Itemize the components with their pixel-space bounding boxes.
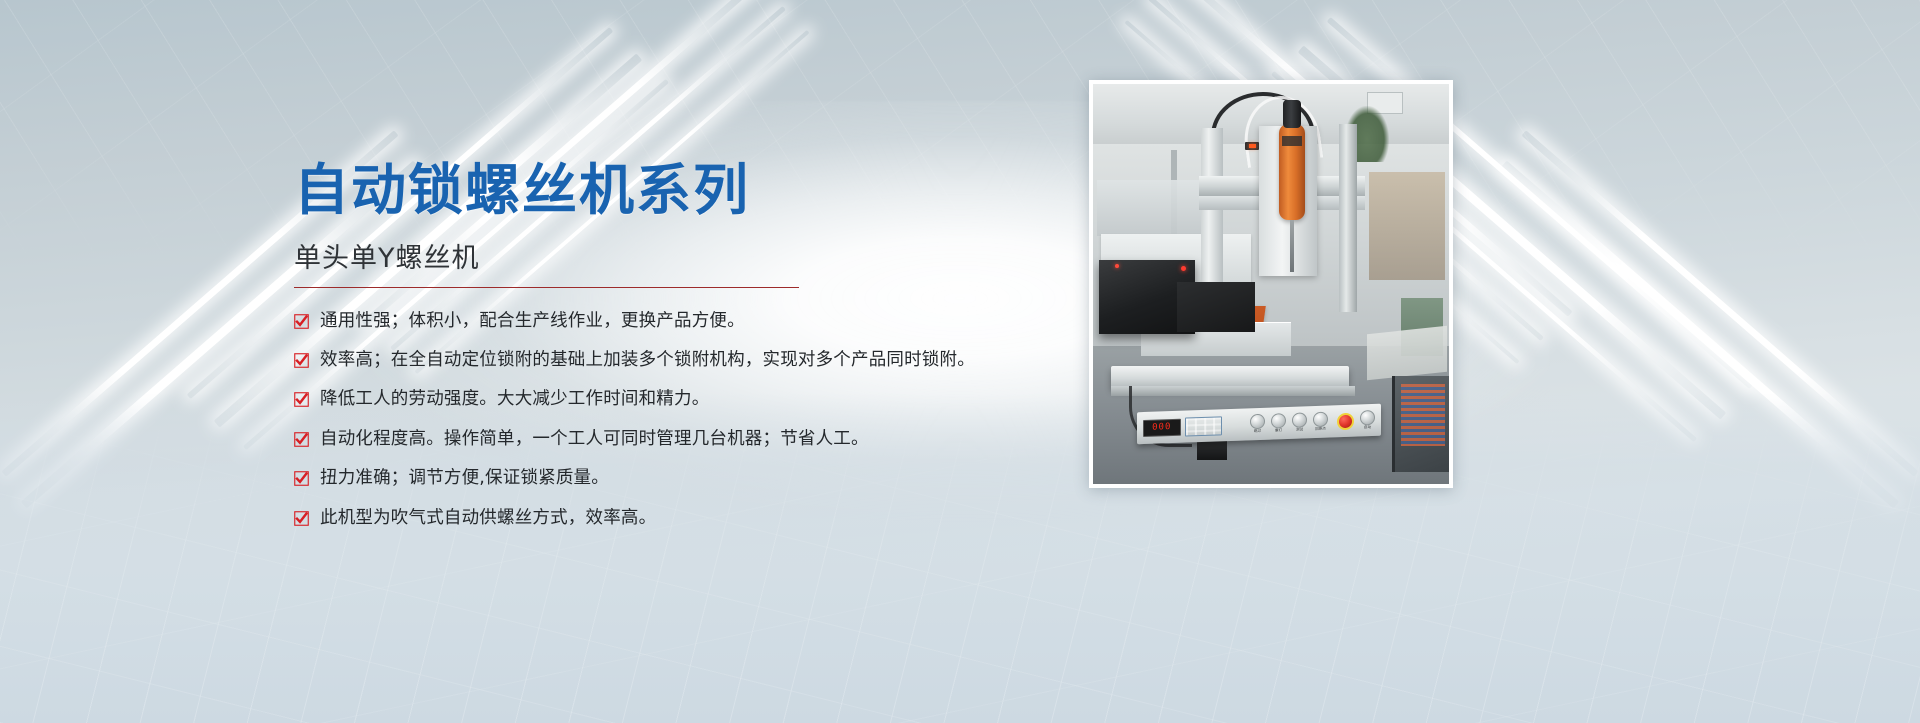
check-box-icon [294,511,309,526]
check-box-icon [294,392,309,407]
check-box-icon [294,432,309,447]
banner-content: 自动锁螺丝机系列 单头单Y螺丝机 通用性强；体积小，配合生产线作业，更换产品方便… [0,0,1920,723]
control-panel-display: 000 [1143,418,1181,436]
check-box-icon [294,353,309,368]
machine-foot-pedal [1197,440,1227,460]
control-panel-buttons: 跳过 重打 测试 回原点 [1250,410,1375,434]
photo-bench-back [1097,180,1215,236]
power-led-icon [1249,144,1256,148]
machine-base-plate [1111,366,1349,388]
machine-indicator-led [1181,266,1186,271]
feature-text: 此机型为吹气式自动供螺丝方式，效率高。 [320,507,656,529]
feature-text: 扭力准确；调节方便,保证锁紧质量。 [320,467,609,489]
button-skip[interactable]: 跳过 [1250,414,1265,434]
machine-indicator-led-2 [1115,264,1119,268]
text-block: 自动锁螺丝机系列 单头单Y螺丝机 通用性强；体积小，配合生产线作业，更换产品方便… [294,160,934,529]
feature-text: 效率高；在全自动定位锁附的基础上加装多个锁附机构，实现对多个产品同时锁附。 [320,349,975,371]
list-item: 通用性强；体积小，配合生产线作业，更换产品方便。 [294,310,934,332]
list-item: 此机型为吹气式自动供螺丝方式，效率高。 [294,507,934,529]
feature-text: 降低工人的劳动强度。大大减少工作时间和精力。 [320,388,709,410]
button-label: 测试 [1296,429,1303,433]
list-item: 自动化程度高。操作简单，一个工人可同时管理几台机器；节省人工。 [294,428,934,450]
list-item: 降低工人的劳动强度。大大减少工作时间和精力。 [294,388,934,410]
button-home[interactable]: 回原点 [1313,412,1328,432]
title-divider [294,287,799,288]
button-label: 重打 [1275,429,1282,433]
product-photo-image: 000 跳过 重打 测试 [1093,84,1449,484]
display-value: 000 [1152,423,1171,433]
list-item: 扭力准确；调节方便,保证锁紧质量。 [294,467,934,489]
button-label: 跳过 [1254,430,1261,434]
page-title: 自动锁螺丝机系列 [294,160,934,222]
machine-screwdriver-cap [1283,100,1301,128]
product-photo: 000 跳过 重打 测试 [1089,80,1453,488]
product-banner: 自动锁螺丝机系列 单头单Y螺丝机 通用性强；体积小，配合生产线作业，更换产品方便… [0,0,1920,723]
feature-list: 通用性强；体积小，配合生产线作业，更换产品方便。 效率高；在全自动定位锁附的基础… [294,310,934,529]
machine-feeder-extension [1177,282,1255,332]
machine-screwdriver-bit [1290,220,1294,272]
emergency-stop-button[interactable] [1337,412,1354,430]
button-start[interactable]: 启动 [1360,410,1375,430]
start-knob-icon [1360,410,1375,426]
power-switch[interactable] [1245,142,1259,150]
button-redo[interactable]: 重打 [1271,413,1286,433]
feature-text: 通用性强；体积小，配合生产线作业，更换产品方便。 [320,310,745,332]
button-test[interactable]: 测试 [1292,413,1307,433]
photo-monitor-screen [1401,384,1445,446]
machine-screwdriver-label [1282,136,1302,146]
home-knob-icon [1313,412,1328,428]
control-panel-keypad[interactable] [1185,416,1223,436]
page-subtitle: 单头单Y螺丝机 [294,236,934,275]
feature-text: 自动化程度高。操作简单，一个工人可同时管理几台机器；节省人工。 [320,428,869,450]
button-label: 启动 [1364,426,1371,430]
test-knob-icon [1292,413,1307,429]
photo-papers [1367,326,1447,380]
button-label: 回原点 [1315,428,1326,432]
redo-knob-icon [1271,413,1286,429]
check-box-icon [294,314,309,329]
machine-right-post [1339,124,1357,312]
check-box-icon [294,471,309,486]
skip-knob-icon [1250,414,1265,430]
photo-shelf [1369,172,1445,280]
list-item: 效率高；在全自动定位锁附的基础上加装多个锁附机构，实现对多个产品同时锁附。 [294,349,934,371]
